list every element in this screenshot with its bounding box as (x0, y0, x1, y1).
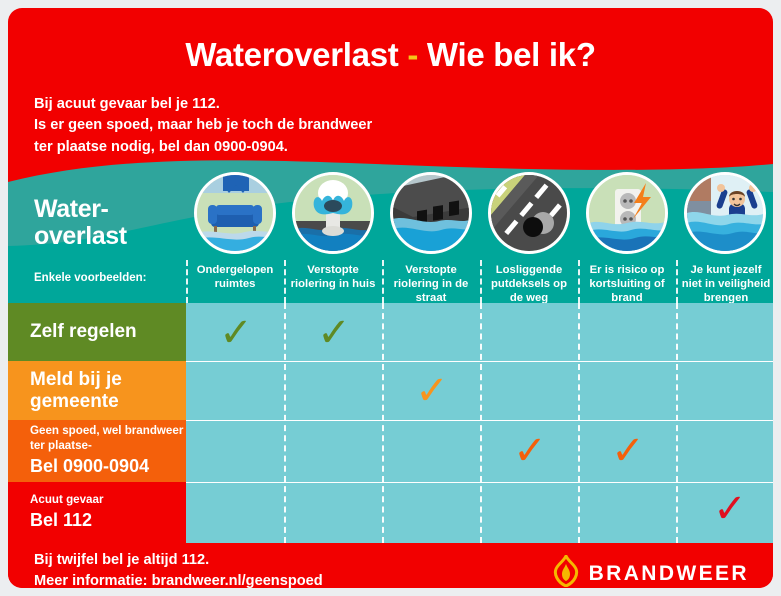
check-zelf-regelen-ondergelopen-ruimtes: ✓ (208, 313, 264, 353)
electrical-socket-spark-icon (586, 172, 668, 254)
row-label-geen-spoed-sub: Geen spoed, wel brandweer ter plaatse- (30, 424, 186, 454)
examples-label: Enkele voorbeelden: (34, 272, 184, 284)
column-header-niet-in-veiligheid: Je kunt jezelf niet in veiligheid brenge… (680, 263, 772, 303)
grid-divider-4 (578, 303, 580, 543)
page-title: Wateroverlast - Wie bel ik? (8, 36, 773, 74)
check-zelf-regelen-verstopte-riolering-huis: ✓ (306, 313, 362, 353)
grid-divider-3 (480, 303, 482, 543)
check-geen-spoed-risico-kortsluiting: ✓ (600, 431, 656, 471)
check-geen-spoed-losliggende-putdeksels: ✓ (502, 431, 558, 471)
intro-text: Bij acuut gevaar bel je 112. Is er geen … (34, 94, 554, 158)
title-dash: - (407, 36, 418, 73)
row-label-acuut-gevaar-sub: Acuut gevaar (30, 493, 186, 508)
grid-divider-5 (676, 303, 678, 543)
band-brand-line-1: Water- (34, 196, 204, 223)
check-meld-bij-je-gemeente-verstopte-riolering-straat: ✓ (404, 371, 460, 411)
intro-line-1: Bij acuut gevaar bel je 112. (34, 94, 554, 115)
intro-line-3: ter plaatse nodig, bel dan 0900-0904. (34, 137, 554, 158)
column-header-verstopte-riolering-straat: Verstopte riolering in de straat (386, 263, 476, 303)
title-main: Wateroverlast (185, 36, 398, 73)
flooded-sewer-street-icon (390, 172, 472, 254)
overflowing-toilet-icon (292, 172, 374, 254)
brandweer-logo-text: BRANDWEER (589, 562, 749, 586)
footer-text: Bij twijfel bel je altijd 112. Meer info… (34, 550, 323, 588)
column-header-verstopte-riolering-huis: Verstopte riolering in huis (288, 263, 378, 303)
column-header-losliggende-putdeksels: Losliggende putdeksels op de weg (484, 263, 574, 303)
grid-divider-1 (284, 303, 286, 543)
grid-divider-2 (382, 303, 384, 543)
poster: Wateroverlast - Wie bel ik? Bij acuut ge… (8, 8, 773, 588)
brandweer-flame-logo-icon (551, 555, 581, 588)
title-sub: Wie bel ik? (427, 36, 596, 73)
header-divider-6 (676, 260, 678, 303)
row-label-zelf-regelen-text: Zelf regelen (30, 321, 186, 342)
row-label-zelf-regelen: Zelf regelen (8, 303, 186, 361)
column-header-ondergelopen-ruimtes: Ondergelopen ruimtes (190, 263, 280, 303)
header-divider-1 (186, 260, 188, 303)
check-acuut-gevaar-niet-in-veiligheid: ✓ (702, 489, 758, 529)
row-label-acuut-gevaar: Acuut gevaar Bel 112 (8, 482, 186, 543)
header-divider-4 (480, 260, 482, 303)
loose-manhole-cover-icon (488, 172, 570, 254)
person-drowning-icon (684, 172, 766, 254)
footer-line-2: Meer informatie: brandweer.nl/geenspoed (34, 571, 323, 588)
column-header-risico-kortsluiting: Er is risico op kortsluiting of brand (582, 263, 672, 303)
advice-grid: Zelf regelen Meld bij je gemeente Geen s… (8, 303, 773, 543)
intro-line-2: Is er geen spoed, maar heb je toch de br… (34, 115, 554, 136)
flooded-living-room-icon (194, 172, 276, 254)
footer-line-1: Bij twijfel bel je altijd 112. (34, 550, 323, 571)
header-divider-3 (382, 260, 384, 303)
row-label-acuut-gevaar-number: Bel 112 (30, 510, 186, 532)
brandweer-logo: BRANDWEER (551, 555, 749, 588)
band-brand-line-2: overlast (34, 223, 204, 250)
header-divider-2 (284, 260, 286, 303)
header-divider-5 (578, 260, 580, 303)
band-brand-title: Water- overlast (34, 196, 204, 250)
row-label-geen-spoed: Geen spoed, wel brandweer ter plaatse- B… (8, 420, 186, 482)
row-label-meld-bij-je-gemeente: Meld bij je gemeente (8, 361, 186, 420)
row-label-meld-bij-je-gemeente-text: Meld bij je gemeente (30, 369, 186, 412)
row-label-geen-spoed-number: Bel 0900-0904 (30, 456, 186, 478)
